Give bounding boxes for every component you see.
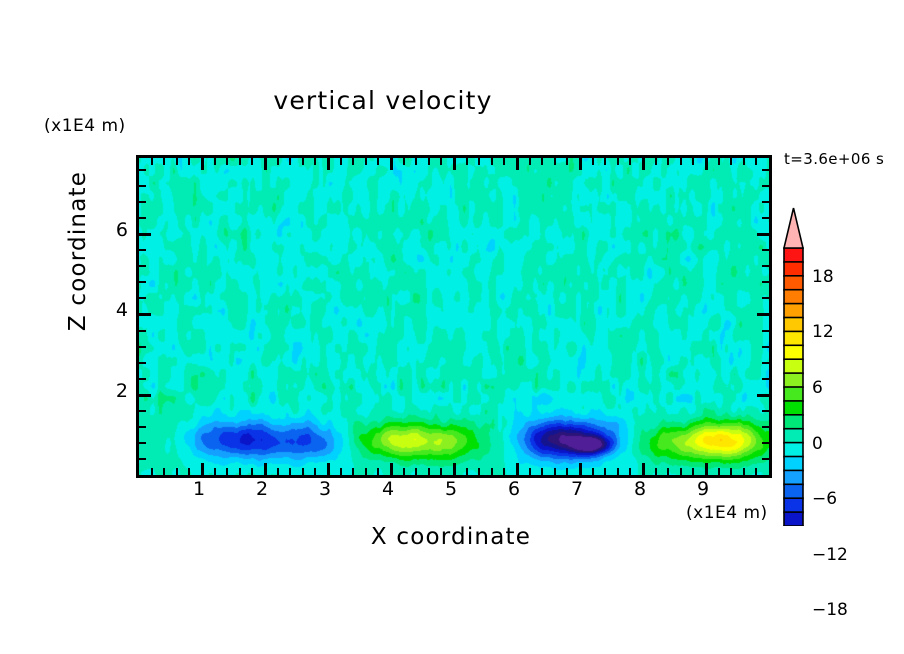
x-tick-minor bbox=[415, 468, 417, 475]
time-stamp-label: t=3.6e+06 s bbox=[784, 150, 884, 168]
x-tick-minor bbox=[440, 468, 442, 475]
x-tick-minor bbox=[541, 468, 543, 475]
x-tick-minor bbox=[176, 468, 178, 475]
z-tick-right bbox=[762, 330, 769, 332]
z-tick-right bbox=[762, 281, 769, 283]
x-tick-minor bbox=[529, 468, 531, 475]
colorbar-tick-label: −18 bbox=[812, 600, 848, 620]
x-tick-minor bbox=[251, 468, 253, 475]
z-tick-minor bbox=[139, 201, 146, 203]
colorbar-tick-label: 6 bbox=[812, 378, 823, 398]
x-tick-top bbox=[755, 158, 757, 165]
z-tick-minor bbox=[139, 378, 146, 380]
x-tick-major bbox=[579, 463, 582, 475]
colorbar-band bbox=[784, 457, 803, 471]
x-tick-top bbox=[289, 158, 291, 165]
x-tick-minor bbox=[718, 468, 720, 475]
colorbar-tick-label: −6 bbox=[812, 489, 837, 509]
x-tick-top bbox=[566, 158, 568, 165]
x-tick-minor bbox=[214, 468, 216, 475]
x-tick-minor bbox=[226, 468, 228, 475]
x-tick-top bbox=[453, 158, 456, 170]
x-tick-top bbox=[151, 158, 153, 165]
x-tick-top bbox=[302, 158, 304, 165]
colorbar-band bbox=[784, 470, 803, 484]
x-tick-major bbox=[390, 463, 393, 475]
z-tick-major bbox=[139, 313, 151, 316]
x-tick-top bbox=[529, 158, 531, 165]
x-tick-minor bbox=[604, 468, 606, 475]
velocity-field-canvas bbox=[139, 158, 769, 475]
x-tick-top bbox=[743, 158, 745, 165]
x-tick-top bbox=[440, 158, 442, 165]
z-tick-minor bbox=[139, 169, 146, 171]
x-tick-minor bbox=[239, 468, 241, 475]
z-tick-label: 6 bbox=[88, 219, 128, 241]
colorbar-band bbox=[784, 248, 803, 262]
x-unit-label: (x1E4 m) bbox=[686, 503, 768, 523]
x-tick-minor bbox=[163, 468, 165, 475]
z-tick-right bbox=[762, 185, 769, 187]
x-tick-top bbox=[365, 158, 367, 165]
z-tick-right bbox=[762, 458, 769, 460]
colorbar-band bbox=[784, 318, 803, 332]
colorbar-band bbox=[784, 443, 803, 457]
colorbar-band bbox=[784, 359, 803, 373]
x-tick-major bbox=[705, 463, 708, 475]
page-title: vertical velocity bbox=[0, 86, 766, 115]
x-tick-minor bbox=[655, 468, 657, 475]
x-tick-top bbox=[655, 158, 657, 165]
colorbar-band bbox=[784, 512, 803, 526]
x-tick-top bbox=[239, 158, 241, 165]
colorbar-band bbox=[784, 262, 803, 276]
x-tick-top bbox=[718, 158, 720, 165]
x-tick-top bbox=[554, 158, 556, 165]
x-tick-label: 6 bbox=[494, 478, 534, 500]
x-tick-minor bbox=[743, 468, 745, 475]
z-tick-minor bbox=[139, 185, 146, 187]
x-tick-minor bbox=[730, 468, 732, 475]
x-tick-minor bbox=[151, 468, 153, 475]
z-tick-minor bbox=[139, 426, 146, 428]
x-tick-label: 9 bbox=[683, 478, 723, 500]
x-tick-top bbox=[541, 158, 543, 165]
x-tick-top bbox=[592, 158, 594, 165]
x-tick-top bbox=[466, 158, 468, 165]
x-tick-top bbox=[503, 158, 505, 165]
z-tick-right bbox=[757, 313, 769, 316]
x-tick-major bbox=[642, 463, 645, 475]
colorbar-band bbox=[784, 290, 803, 304]
z-tick-minor bbox=[139, 442, 146, 444]
x-tick-minor bbox=[377, 468, 379, 475]
x-tick-minor bbox=[340, 468, 342, 475]
x-tick-minor bbox=[289, 468, 291, 475]
z-tick-minor bbox=[139, 249, 146, 251]
colorbar-tick-label: 18 bbox=[812, 267, 834, 287]
z-tick-minor bbox=[139, 330, 146, 332]
x-tick-top bbox=[163, 158, 165, 165]
z-tick-minor bbox=[139, 346, 146, 348]
contour-plot-area bbox=[136, 155, 772, 478]
colorbar-tick-label: −12 bbox=[812, 545, 848, 565]
x-tick-top bbox=[415, 158, 417, 165]
x-axis-title: X coordinate bbox=[136, 524, 766, 550]
x-tick-top bbox=[226, 158, 228, 165]
x-tick-top bbox=[428, 158, 430, 165]
x-tick-minor bbox=[755, 468, 757, 475]
x-tick-top bbox=[491, 158, 493, 165]
x-tick-top bbox=[478, 158, 480, 165]
z-tick-major bbox=[139, 233, 151, 236]
x-tick-minor bbox=[667, 468, 669, 475]
x-tick-label: 5 bbox=[431, 478, 471, 500]
x-tick-minor bbox=[277, 468, 279, 475]
x-tick-top bbox=[176, 158, 178, 165]
colorbar-tick-label: 12 bbox=[812, 322, 834, 342]
x-tick-major bbox=[516, 463, 519, 475]
x-tick-label: 4 bbox=[368, 478, 408, 500]
x-tick-top bbox=[377, 158, 379, 165]
x-tick-minor bbox=[188, 468, 190, 475]
colorbar-band bbox=[784, 484, 803, 498]
x-tick-minor bbox=[554, 468, 556, 475]
x-tick-minor bbox=[617, 468, 619, 475]
x-tick-label: 8 bbox=[620, 478, 660, 500]
z-tick-minor bbox=[139, 458, 146, 460]
x-tick-minor bbox=[302, 468, 304, 475]
z-tick-minor bbox=[139, 297, 146, 299]
z-tick-right bbox=[762, 217, 769, 219]
x-tick-top bbox=[214, 158, 216, 165]
x-tick-minor bbox=[566, 468, 568, 475]
x-tick-major bbox=[264, 463, 267, 475]
colorbar-band bbox=[784, 373, 803, 387]
z-tick-minor bbox=[139, 281, 146, 283]
x-tick-minor bbox=[352, 468, 354, 475]
x-tick-minor bbox=[403, 468, 405, 475]
z-tick-right bbox=[762, 297, 769, 299]
x-tick-label: 3 bbox=[305, 478, 345, 500]
x-tick-top bbox=[642, 158, 645, 170]
colorbar-over-cap bbox=[784, 208, 803, 248]
x-tick-minor bbox=[680, 468, 682, 475]
x-tick-minor bbox=[314, 468, 316, 475]
x-tick-minor bbox=[491, 468, 493, 475]
z-tick-right bbox=[762, 378, 769, 380]
x-tick-minor bbox=[365, 468, 367, 475]
x-tick-label: 2 bbox=[242, 478, 282, 500]
colorbar-band bbox=[784, 304, 803, 318]
x-tick-top bbox=[617, 158, 619, 165]
z-tick-right bbox=[757, 394, 769, 397]
x-tick-minor bbox=[592, 468, 594, 475]
x-tick-label: 1 bbox=[179, 478, 219, 500]
colorbar-band bbox=[784, 415, 803, 429]
z-tick-minor bbox=[139, 265, 146, 267]
colorbar-tick-label: 0 bbox=[812, 434, 823, 454]
z-tick-label: 2 bbox=[88, 380, 128, 402]
x-tick-top bbox=[277, 158, 279, 165]
colorbar-band bbox=[784, 276, 803, 290]
x-tick-top bbox=[314, 158, 316, 165]
z-tick-right bbox=[762, 346, 769, 348]
z-tick-right bbox=[762, 169, 769, 171]
x-tick-major bbox=[201, 463, 204, 475]
x-tick-top bbox=[516, 158, 519, 170]
colorbar-band bbox=[784, 387, 803, 401]
colorbar-band bbox=[784, 345, 803, 359]
z-tick-major bbox=[139, 394, 151, 397]
x-tick-major bbox=[453, 463, 456, 475]
z-tick-right bbox=[762, 201, 769, 203]
x-tick-top bbox=[340, 158, 342, 165]
x-tick-top bbox=[251, 158, 253, 165]
z-tick-minor bbox=[139, 410, 146, 412]
y-axis-title: Z coordinate bbox=[65, 141, 91, 361]
z-unit-label: (x1E4 m) bbox=[44, 116, 126, 136]
x-tick-label: 7 bbox=[557, 478, 597, 500]
x-tick-top bbox=[629, 158, 631, 165]
x-tick-top bbox=[188, 158, 190, 165]
x-tick-major bbox=[327, 463, 330, 475]
z-tick-minor bbox=[139, 362, 146, 364]
colorbar-band bbox=[784, 331, 803, 345]
z-tick-right bbox=[757, 233, 769, 236]
x-tick-minor bbox=[466, 468, 468, 475]
x-tick-top bbox=[327, 158, 330, 170]
x-tick-minor bbox=[629, 468, 631, 475]
x-tick-top bbox=[705, 158, 708, 170]
z-tick-label: 4 bbox=[88, 299, 128, 321]
x-tick-top bbox=[604, 158, 606, 165]
z-tick-minor bbox=[139, 217, 146, 219]
x-tick-top bbox=[680, 158, 682, 165]
x-tick-top bbox=[403, 158, 405, 165]
z-tick-right bbox=[762, 362, 769, 364]
x-tick-top bbox=[201, 158, 204, 170]
colorbar bbox=[782, 206, 828, 526]
x-tick-minor bbox=[692, 468, 694, 475]
x-tick-top bbox=[667, 158, 669, 165]
x-tick-minor bbox=[503, 468, 505, 475]
x-tick-minor bbox=[478, 468, 480, 475]
x-tick-top bbox=[692, 158, 694, 165]
z-tick-right bbox=[762, 426, 769, 428]
x-tick-top bbox=[264, 158, 267, 170]
colorbar-band bbox=[784, 429, 803, 443]
x-tick-top bbox=[390, 158, 393, 170]
x-tick-minor bbox=[428, 468, 430, 475]
z-tick-right bbox=[762, 249, 769, 251]
x-tick-top bbox=[352, 158, 354, 165]
x-tick-top bbox=[579, 158, 582, 170]
z-tick-right bbox=[762, 410, 769, 412]
colorbar-band bbox=[784, 401, 803, 415]
x-tick-top bbox=[730, 158, 732, 165]
colorbar-band bbox=[784, 498, 803, 512]
z-tick-right bbox=[762, 442, 769, 444]
z-tick-right bbox=[762, 265, 769, 267]
